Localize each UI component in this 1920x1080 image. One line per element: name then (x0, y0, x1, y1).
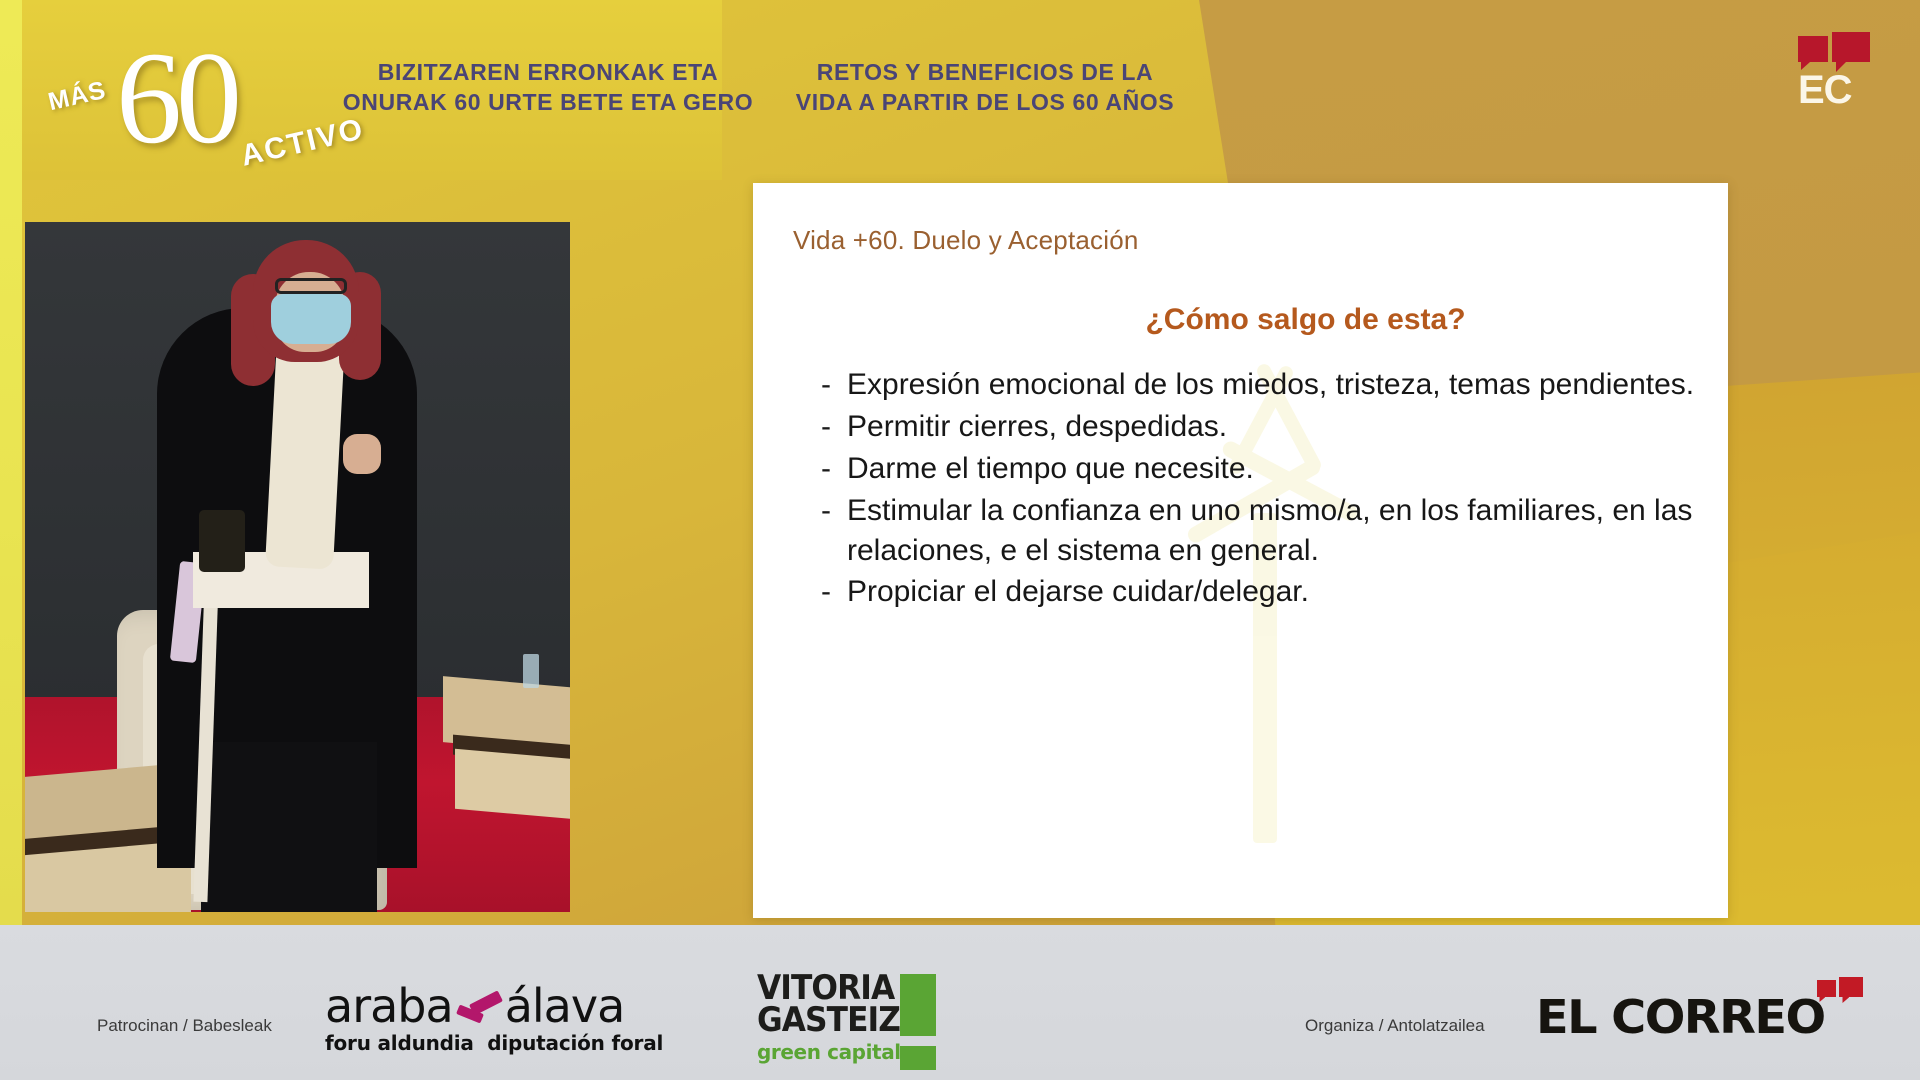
mas-60-activo-logo: MÁS 60 ACTIVO (44, 40, 344, 165)
bullet-marker: - (821, 407, 847, 447)
exclamation-mark-icon (900, 974, 936, 1070)
list-item: - Propiciar el dejarse cuidar/delegar. (821, 572, 1701, 612)
araba-check-icon (453, 998, 505, 1024)
vitoria-gasteiz-logo: VITORIA GASTEIZ green capital (757, 972, 942, 1080)
alava-word: álava (505, 979, 625, 1033)
speaker-hand (343, 434, 381, 474)
araba-alava-logo: arabaálava foru aldundia diputación fora… (325, 983, 663, 1055)
bullet-text: Estimular la confianza en uno mismo/a, e… (847, 491, 1701, 571)
header-basque-line-2: ONURAK 60 URTE BETE ETA GERO (338, 87, 758, 117)
header-spanish-line-2: VIDA A PARTIR DE LOS 60 AÑOS (760, 87, 1210, 117)
speaker-scarf (265, 336, 345, 569)
list-item: - Permitir cierres, despedidas. (821, 407, 1701, 447)
face-mask-icon (271, 294, 351, 344)
header-basque-line-1: BIZITZAREN ERRONKAK ETA (338, 57, 758, 87)
bullet-marker: - (821, 491, 847, 531)
eyeglasses-icon (275, 278, 347, 294)
el-correo-channel-icon: EC (1798, 30, 1878, 110)
broadcast-frame: MÁS 60 ACTIVO BIZITZAREN ERRONKAK ETA ON… (0, 0, 1920, 1080)
list-item: - Darme el tiempo que necesite. (821, 449, 1701, 489)
el-correo-speech-bubbles-icon (1817, 976, 1867, 1006)
slide-heading: ¿Cómo salgo de esta? (753, 303, 1728, 337)
list-item: - Expresión emocional de los miedos, tri… (821, 365, 1701, 405)
speaker-bag (199, 510, 245, 572)
background-left-band (0, 0, 22, 925)
araba-alava-subtitle: foru aldundia diputación foral (325, 1031, 663, 1055)
logo-sixty-text: 60 (116, 32, 236, 164)
header-title-basque: BIZITZAREN ERRONKAK ETA ONURAK 60 URTE B… (338, 57, 758, 118)
logo-mas-text: MÁS (45, 76, 109, 117)
bullet-text: Darme el tiempo que necesite. (847, 449, 1254, 489)
sponsors-label: Patrocinan / Babesleak (97, 1016, 272, 1036)
bullet-text: Permitir cierres, despedidas. (847, 407, 1227, 447)
araba-sub-spanish: diputación foral (487, 1031, 663, 1055)
list-item: - Estimular la confianza en uno mismo/a,… (821, 491, 1701, 571)
header-title-spanish: RETOS Y BENEFICIOS DE LA VIDA A PARTIR D… (760, 57, 1210, 118)
speaker-legs (201, 742, 377, 912)
speech-bubble-icon-large (1832, 32, 1870, 62)
bullet-marker: - (821, 572, 847, 612)
slide-title: Vida +60. Duelo y Aceptación (793, 225, 1139, 256)
ec-monogram-text: EC (1798, 70, 1852, 110)
speaker-video-frame (25, 222, 570, 912)
water-glass (523, 654, 539, 688)
speech-bubble-icon-small (1798, 36, 1828, 62)
bullet-marker: - (821, 449, 847, 489)
slide-bullet-list: - Expresión emocional de los miedos, tri… (821, 365, 1701, 614)
bullet-text: Expresión emocional de los miedos, trist… (847, 365, 1694, 405)
el-correo-wordmark: EL CORREO (1536, 990, 1825, 1044)
bullet-text: Propiciar el dejarse cuidar/delegar. (847, 572, 1309, 612)
el-correo-logo: EL CORREO (1536, 990, 1813, 1044)
bullet-marker: - (821, 365, 847, 405)
araba-sub-basque: foru aldundia (325, 1031, 474, 1055)
araba-alava-wordmark: arabaálava (325, 983, 663, 1029)
organizer-label: Organiza / Antolatzailea (1305, 1016, 1485, 1036)
presentation-slide: Vida +60. Duelo y Aceptación ¿Cómo salgo… (753, 183, 1728, 918)
araba-word: araba (325, 979, 453, 1033)
header-spanish-line-1: RETOS Y BENEFICIOS DE LA (760, 57, 1210, 87)
